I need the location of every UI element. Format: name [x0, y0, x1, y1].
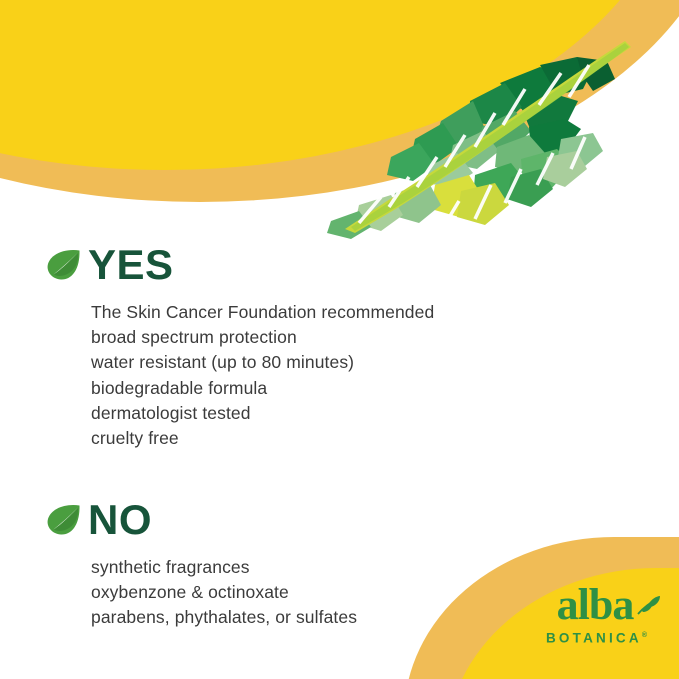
- brand-wordmark: alba: [533, 583, 657, 627]
- no-heading-row: NO: [46, 498, 357, 542]
- brand-logo: alba BOTANICA®: [533, 583, 657, 643]
- leaf-icon: [46, 503, 82, 537]
- leaf-sprig-icon: [635, 581, 661, 603]
- list-item: broad spectrum protection: [91, 325, 434, 350]
- no-heading: NO: [88, 499, 152, 541]
- list-item: parabens, phythalates, or sulfates: [91, 605, 357, 630]
- list-item: cruelty free: [91, 426, 434, 451]
- list-item: synthetic fragrances: [91, 555, 357, 580]
- yes-list: The Skin Cancer Foundation recommended b…: [91, 300, 434, 451]
- registered-mark: ®: [642, 632, 647, 639]
- list-item: The Skin Cancer Foundation recommended: [91, 300, 434, 325]
- leaf-icon: [46, 248, 82, 282]
- no-list: synthetic fragrances oxybenzone & octino…: [91, 555, 357, 631]
- list-item: oxybenzone & octinoxate: [91, 580, 357, 605]
- list-item: biodegradable formula: [91, 376, 434, 401]
- section-no: NO synthetic fragrances oxybenzone & oct…: [46, 498, 357, 631]
- list-item: water resistant (up to 80 minutes): [91, 350, 434, 375]
- brand-subtext-text: BOTANICA: [546, 631, 642, 646]
- list-item: dermatologist tested: [91, 401, 434, 426]
- brand-wordmark-text: alba: [557, 580, 634, 629]
- yes-heading-row: YES: [46, 243, 434, 287]
- yes-heading: YES: [88, 244, 174, 286]
- section-yes: YES The Skin Cancer Foundation recommend…: [46, 243, 434, 451]
- product-claims-poster: YES The Skin Cancer Foundation recommend…: [0, 0, 679, 679]
- brand-subtext: BOTANICA®: [533, 628, 657, 646]
- tropical-leaf-illustration: [325, 35, 635, 240]
